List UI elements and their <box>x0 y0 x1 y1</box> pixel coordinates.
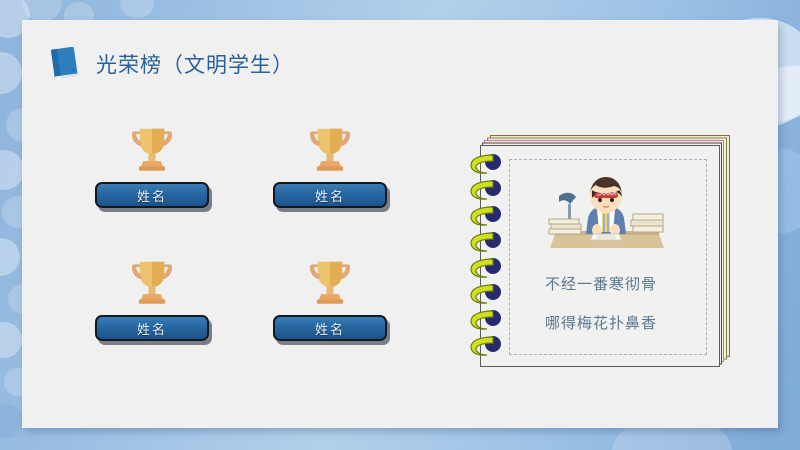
name-plate-wrap: 姓名 <box>273 315 387 341</box>
background-bubble <box>22 0 62 22</box>
page-header: 光荣榜（文明学生） <box>48 45 294 83</box>
background-bubble <box>0 404 24 438</box>
honor-roll-grid: 姓名 姓名 <box>77 120 427 370</box>
spiral-binding-icon <box>466 151 510 363</box>
quote-line: 不经一番寒彻骨 <box>481 273 721 294</box>
quote-line: 哪得梅花扑鼻香 <box>481 312 721 333</box>
background-bubble <box>0 238 20 276</box>
background-bubble <box>120 0 154 18</box>
notebook: 不经一番寒彻骨 哪得梅花扑鼻香 <box>480 145 728 373</box>
name-plate-label: 姓名 <box>315 319 345 338</box>
trophy-icon <box>302 253 358 309</box>
name-plate-label: 姓名 <box>137 319 167 338</box>
background-bubble <box>0 150 24 190</box>
notebook-top-page: 不经一番寒彻骨 哪得梅花扑鼻香 <box>480 145 720 367</box>
award-card[interactable]: 姓名 <box>77 253 227 341</box>
name-plate-wrap: 姓名 <box>95 182 209 208</box>
student-studying-at-desk-icon <box>541 174 671 256</box>
blue-book-icon <box>48 45 82 83</box>
award-card[interactable]: 姓名 <box>77 120 227 208</box>
award-card[interactable]: 姓名 <box>255 120 405 208</box>
trophy-icon <box>124 120 180 176</box>
background-bubble <box>0 322 22 358</box>
name-plate[interactable]: 姓名 <box>95 315 209 341</box>
trophy-icon <box>124 253 180 309</box>
name-plate[interactable]: 姓名 <box>95 182 209 208</box>
content-card: 光荣榜（文明学生） 姓名 <box>22 20 778 428</box>
name-plate[interactable]: 姓名 <box>273 315 387 341</box>
slide-canvas: 光荣榜（文明学生） 姓名 <box>0 0 800 450</box>
background-bubble <box>0 52 22 94</box>
name-plate[interactable]: 姓名 <box>273 182 387 208</box>
name-plate-label: 姓名 <box>315 186 345 205</box>
name-plate-wrap: 姓名 <box>273 182 387 208</box>
award-card[interactable]: 姓名 <box>255 253 405 341</box>
trophy-icon <box>302 120 358 176</box>
name-plate-label: 姓名 <box>137 186 167 205</box>
page-title: 光荣榜（文明学生） <box>96 49 294 79</box>
name-plate-wrap: 姓名 <box>95 315 209 341</box>
